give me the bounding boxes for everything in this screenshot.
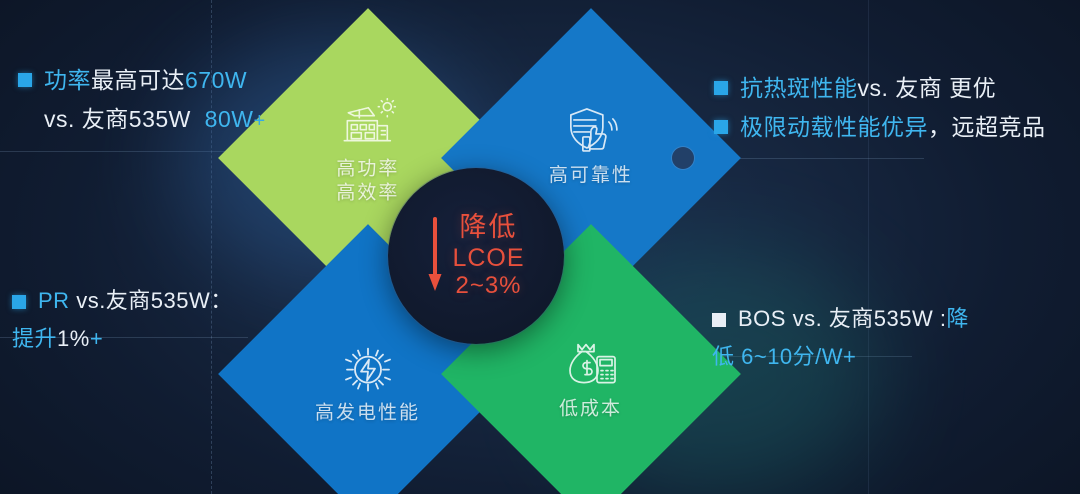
callout-pr-l2-seg3: + (90, 326, 103, 351)
callout-bos-l1-seg2: 降 (947, 306, 970, 331)
callout-reliable-l2-seg2: ，远超竞品 (928, 114, 1046, 140)
callout-power-l2-seg2: 80W (205, 106, 254, 132)
diamond-label-high-power: 高功率 高效率 (336, 158, 399, 206)
connector-line-power (0, 151, 252, 152)
bullet-square-icon (714, 120, 728, 134)
center-hub-text: 降低 LCOE 2~3% (452, 212, 524, 299)
callout-reliable: 抗热斑性能vs. 友商 更优 极限动载性能优异，远超竞品 (714, 74, 1046, 141)
center-line-1: 降低 (452, 212, 524, 242)
diamond-label-high-reliability: 高可靠性 (549, 165, 633, 187)
center-line-2: LCOE (452, 244, 524, 272)
shield-thumbs-up-icon (561, 105, 621, 159)
callout-power-line-1: 功率最高可达670W (18, 66, 266, 94)
center-line-3: 2~3% (452, 273, 524, 300)
callout-power-l2-seg3: + (253, 110, 265, 132)
down-arrow-icon (427, 217, 443, 295)
infographic-canvas: 高功率 高效率 高可靠性 (0, 0, 1080, 494)
sun-lightning-icon (338, 343, 398, 397)
callout-pr-l2-seg2: 1% (57, 326, 90, 351)
solar-panel-factory-icon (338, 98, 398, 152)
callout-reliable-line-1: 抗热斑性能vs. 友商 更优 (714, 74, 1046, 102)
callout-pr-l1-seg2: vs.友商535W： (76, 288, 233, 313)
callout-pr: PR vs.友商535W： 提升1%+ (12, 288, 233, 353)
callout-bos-l1-seg1: BOS vs. 友商535W : (738, 306, 947, 331)
callout-power-l1-seg3: 670W (185, 67, 247, 93)
center-hub-lcoe: 降低 LCOE 2~3% (388, 168, 564, 344)
connector-node-reliable (672, 147, 694, 169)
callout-bos-l2-seg1: 低 6~10分/W+ (712, 344, 856, 369)
callout-power-l2-seg1: vs. 友商535W (44, 106, 191, 132)
callout-reliable-line-2: 极限动载性能优异，远超竞品 (714, 113, 1046, 141)
callout-reliable-l1-seg2: vs. 友商 更优 (858, 75, 997, 101)
bullet-square-icon (714, 81, 728, 95)
callout-pr-line-1: PR vs.友商535W： (12, 288, 233, 315)
callout-reliable-l2-seg1: 极限动载性能优异 (740, 114, 928, 140)
money-bag-calculator-icon (561, 339, 621, 393)
callout-power-l1-seg1: 功率 (44, 67, 91, 93)
diamond-label-high-generation: 高发电性能 (315, 403, 420, 425)
bullet-square-icon (12, 295, 26, 309)
bullet-square-icon (18, 73, 32, 87)
callout-pr-l1-seg1: PR (38, 288, 70, 313)
callout-pr-l2-seg1: 提升 (12, 326, 57, 351)
bullet-square-icon (712, 313, 726, 327)
diamond-label-low-cost: 低成本 (559, 399, 622, 421)
callout-pr-line-2: 提升1%+ (12, 326, 233, 353)
callout-bos: BOS vs. 友商535W :降 低 6~10分/W+ (712, 306, 969, 371)
callout-bos-line-1: BOS vs. 友商535W :降 (712, 306, 969, 333)
callout-power: 功率最高可达670W vs. 友商535W 80W+ (18, 66, 266, 133)
callout-bos-line-2: 低 6~10分/W+ (712, 344, 969, 371)
callout-power-line-2: vs. 友商535W 80W+ (18, 105, 266, 133)
callout-reliable-l1-seg1: 抗热斑性能 (740, 75, 858, 101)
callout-power-l1-seg2: 最高可达 (91, 67, 185, 93)
